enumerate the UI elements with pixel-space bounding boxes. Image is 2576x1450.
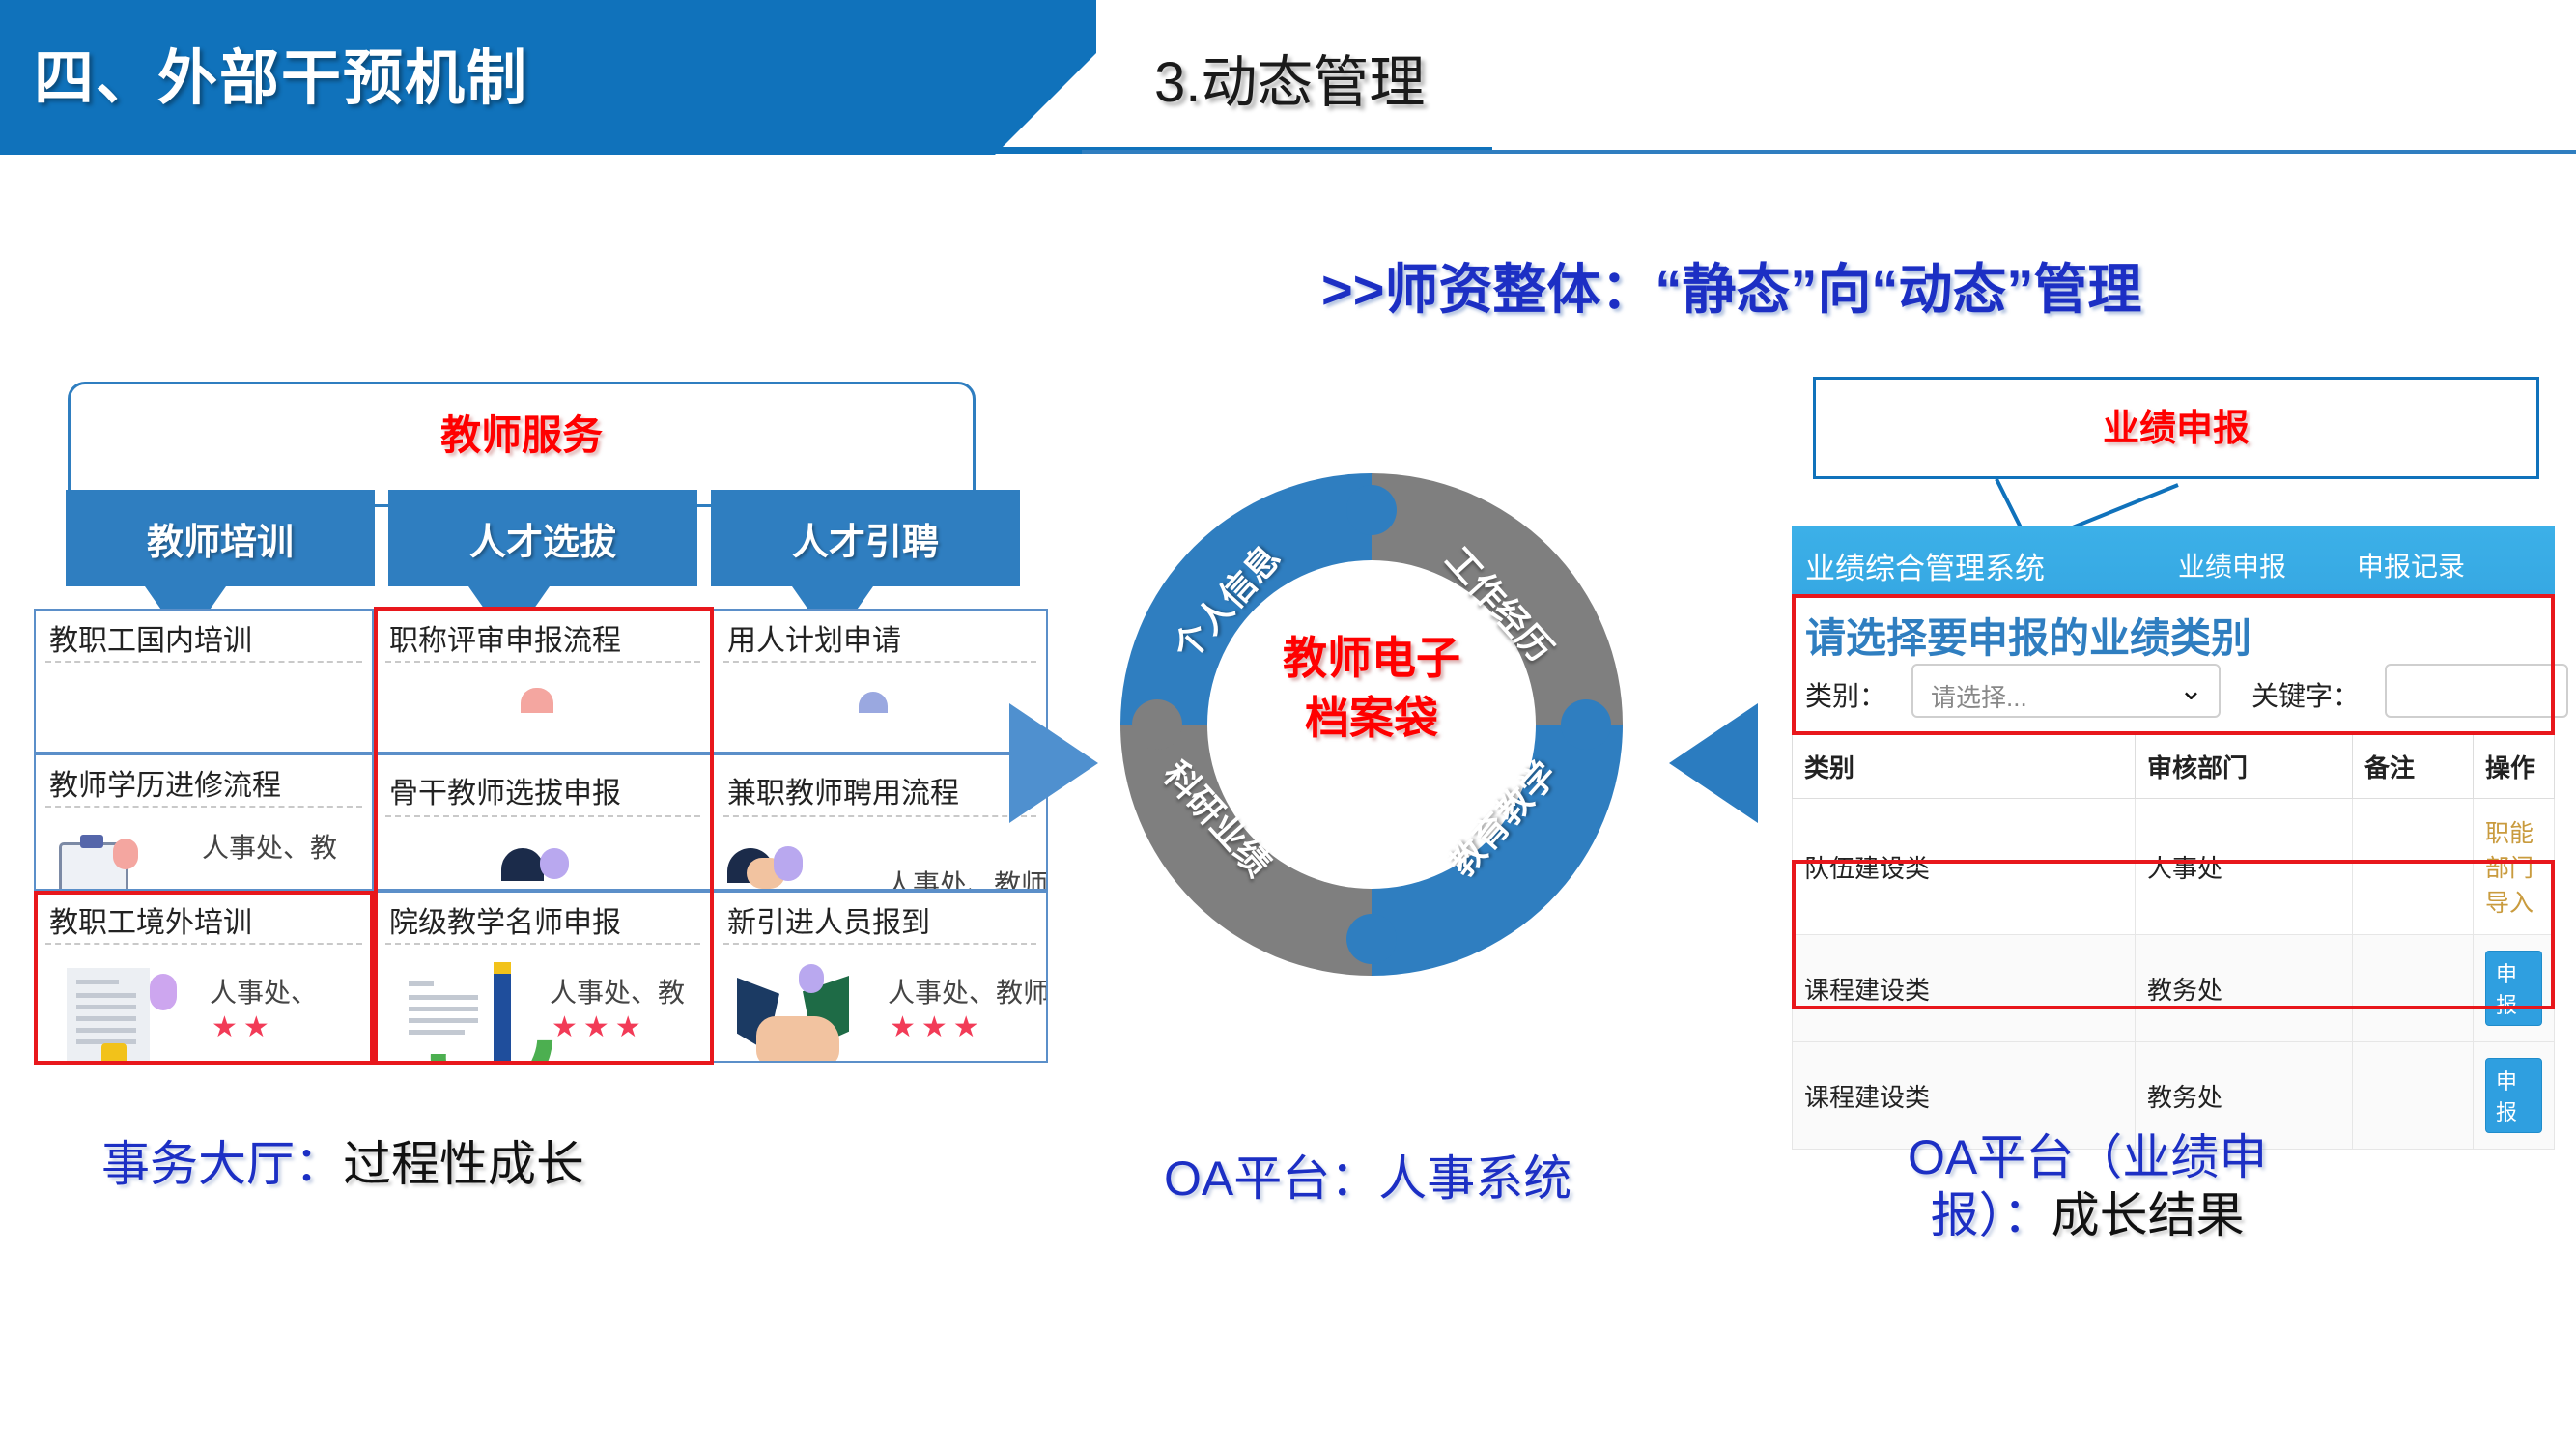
service-card[interactable]: 职称评审申报流程 <box>374 609 712 753</box>
handshake-icon <box>731 962 866 1063</box>
col-note: 备注 <box>2353 735 2474 799</box>
caption-right-line2: 报）： <box>1931 1188 2052 1242</box>
puzzle-knob-icon <box>1346 485 1397 535</box>
card-divider <box>45 661 362 663</box>
service-card[interactable]: 教职工国内培训 <box>34 609 374 753</box>
teacher-eportfolio-diagram: 个人信息 工作经历 教育教学 科研业绩 教师电子 档案袋 <box>1120 473 1623 976</box>
person-icon <box>501 848 544 881</box>
service-card-stars: ★★★ <box>890 1010 985 1044</box>
nav-item-declare[interactable]: 业绩申报 <box>2178 546 2286 584</box>
service-card[interactable]: 新引进人员报到 人事处、教师 ★★★ <box>712 891 1048 1063</box>
service-card-stars: ★★ <box>212 1010 275 1044</box>
service-card-dept: 人事处、 <box>210 972 318 1010</box>
ring-center-text: 教师电子 档案袋 <box>1227 628 1516 748</box>
service-card-title: 新引进人员报到 <box>727 898 930 941</box>
caption-right-black: 成长结果 <box>2052 1188 2245 1242</box>
person-blob-icon <box>540 848 569 879</box>
card-divider <box>385 943 700 945</box>
service-card-grid: 教职工国内培训 职称评审申报流程 用人计划申请 教师学历进修流程 人事处、教 骨… <box>34 609 1048 1063</box>
person-blob-icon <box>774 846 803 881</box>
service-card-dept: 人事处、教师处 <box>886 864 1048 891</box>
col-dept: 审核部门 <box>2136 735 2353 799</box>
service-card[interactable]: 骨干教师选拔申报 <box>374 753 712 891</box>
service-card-title: 骨干教师选拔申报 <box>389 769 621 811</box>
col-category: 类别 <box>1793 735 2136 799</box>
declare-button[interactable]: 申报 <box>2485 1058 2542 1133</box>
category-tab-label: 人才引聘 <box>792 512 939 565</box>
service-card-title: 职称评审申报流程 <box>389 616 621 659</box>
performance-app-window: 业绩综合管理系统 业绩申报 申报记录 请选择要申报的业绩类别 类别： 请选择..… <box>1792 526 2555 1067</box>
category-tab-label: 人才选拔 <box>469 512 616 565</box>
card-divider <box>723 661 1036 663</box>
puzzle-knob-icon <box>1132 699 1182 750</box>
card-divider <box>45 943 362 945</box>
puzzle-knob-icon <box>1346 914 1397 964</box>
category-tab-teacher-training[interactable]: 教师培训 <box>66 490 375 586</box>
category-tab-talent-selection[interactable]: 人才选拔 <box>388 490 697 586</box>
category-tab-label: 教师培训 <box>147 512 294 565</box>
clipboard-icon <box>53 825 188 891</box>
service-card[interactable]: 兼职教师聘用流程 人事处、教师处 <box>712 753 1048 891</box>
left-panel-service-hall: 教师服务 教师培训 人才选拔 人才引聘 教职工国内培训 职称评审申报流程 用人计… <box>29 372 1053 1087</box>
card-divider <box>723 815 1036 817</box>
card-divider <box>385 815 700 817</box>
highlight-frame-form <box>1792 594 2555 735</box>
caption-right-line1: OA平台（业绩申 <box>1908 1128 2267 1186</box>
ring-center-line2: 档案袋 <box>1227 688 1516 748</box>
header-rule-right <box>1082 150 2576 154</box>
service-card-title: 教职工境外培训 <box>49 898 252 941</box>
card-divider <box>723 943 1036 945</box>
caption-left-black: 过程性成长 <box>343 1137 584 1191</box>
caption-left-blue: 事务大厅： <box>101 1137 343 1191</box>
person-icon <box>521 688 553 713</box>
service-card[interactable]: 教师学历进修流程 人事处、教 <box>34 753 374 891</box>
service-card-title: 教职工国内培训 <box>49 616 252 659</box>
service-card[interactable]: 用人计划申请 <box>712 609 1048 753</box>
slide-subtitle: 3.动态管理 <box>1154 37 1425 118</box>
service-card-title: 兼职教师聘用流程 <box>727 769 959 811</box>
caption-right: OA平台（业绩申 报）：成长结果 <box>1908 1128 2267 1244</box>
callout-label: 业绩申报 <box>1813 398 2539 451</box>
right-panel-performance-system: 业绩申报 业绩综合管理系统 业绩申报 申报记录 请选择要申报的业绩类别 类别： … <box>1792 377 2555 1092</box>
card-divider <box>45 806 362 808</box>
service-card-title: 院级教学名师申报 <box>389 898 621 941</box>
document-icon <box>53 962 188 1063</box>
arrow-right-icon <box>1009 703 1098 823</box>
service-card-title: 教师学历进修流程 <box>49 761 281 804</box>
caption-center: OA平台：人事系统 <box>1164 1140 1571 1209</box>
nav-item-records[interactable]: 申报记录 <box>2357 546 2465 584</box>
highlight-frame-rows <box>1792 860 2555 1009</box>
category-tab-talent-recruit[interactable]: 人才引聘 <box>711 490 1020 586</box>
service-card[interactable]: 教职工境外培训 人事处、 ★★ <box>34 891 374 1063</box>
subtitle-statement: >>师资整体：“静态”向“动态”管理 <box>1321 246 2141 325</box>
cell-note <box>2353 1042 2474 1150</box>
teacher-service-title: 教师服务 <box>68 403 976 462</box>
table-header-row: 类别 审核部门 备注 操作 <box>1793 735 2555 799</box>
service-card-dept: 人事处、教 <box>202 827 337 866</box>
service-card-stars: ★★★ <box>552 1010 647 1044</box>
col-action: 操作 <box>2474 735 2555 799</box>
cell-action: 申报 <box>2474 1042 2555 1150</box>
page-title: 四、外部干预机制 <box>34 29 528 116</box>
caption-left: 事务大厅：过程性成长 <box>101 1125 584 1195</box>
service-card-dept: 人事处、教 <box>550 972 685 1010</box>
app-brand-label: 业绩综合管理系统 <box>1805 544 2045 587</box>
arrow-left-icon <box>1669 703 1758 823</box>
person-icon <box>859 692 888 713</box>
service-card[interactable]: 院级教学名师申报 人事处、教 ★★★ <box>374 891 712 1063</box>
card-divider <box>385 661 700 663</box>
ring-center-line1: 教师电子 <box>1227 628 1516 688</box>
pen-icon <box>393 962 528 1063</box>
service-card-dept: 人事处、教师 <box>888 972 1048 1010</box>
puzzle-knob-icon <box>1561 699 1611 750</box>
service-card-title: 用人计划申请 <box>727 616 901 659</box>
